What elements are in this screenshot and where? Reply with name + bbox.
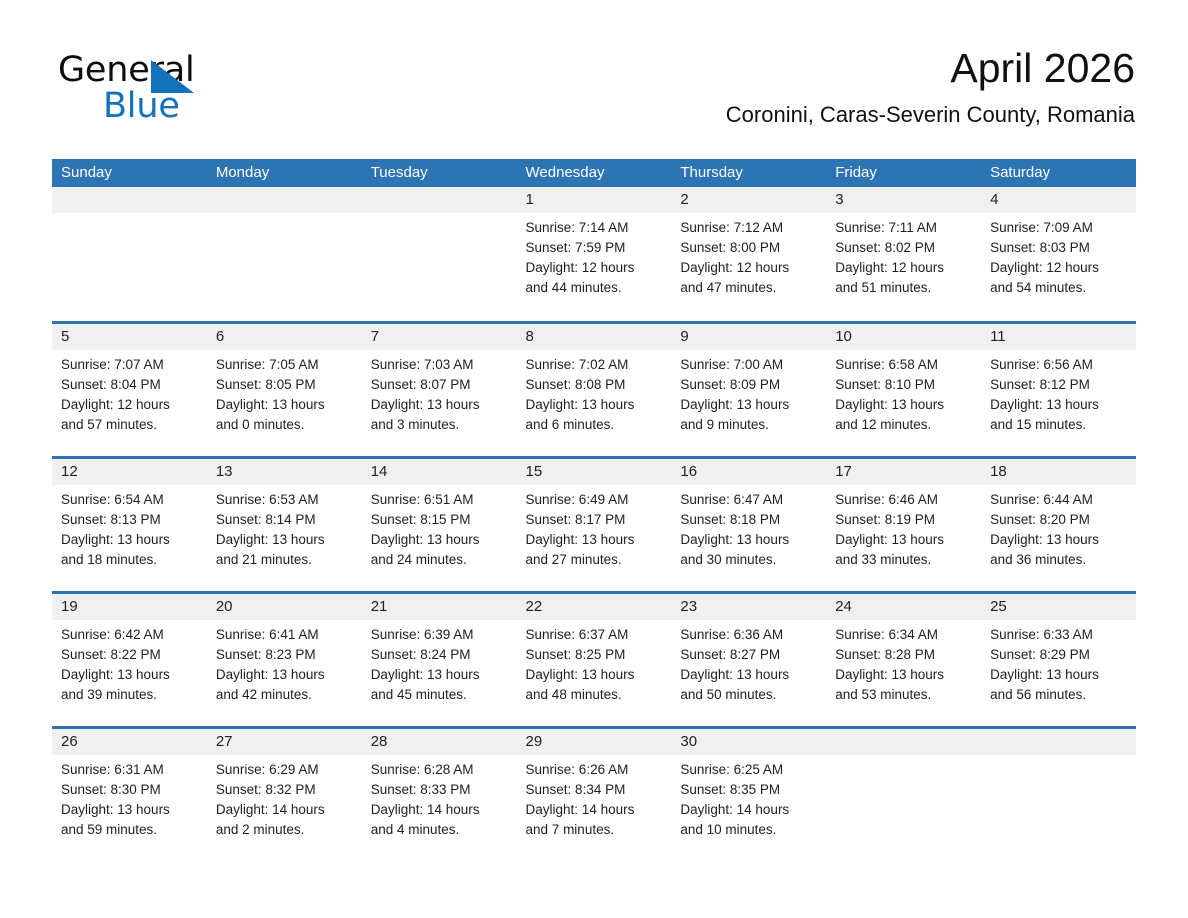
daylight-text-line1: Daylight: 13 hours xyxy=(835,665,973,685)
sunset-text: Sunset: 8:19 PM xyxy=(835,510,973,530)
calendar-day-cell[interactable]: 16 Sunrise: 6:47 AM Sunset: 8:18 PM Dayl… xyxy=(671,457,826,592)
day-details: Sunrise: 7:03 AM Sunset: 8:07 PM Dayligh… xyxy=(362,350,517,435)
day-details: Sunrise: 6:28 AM Sunset: 8:33 PM Dayligh… xyxy=(362,755,517,840)
sunset-text: Sunset: 8:22 PM xyxy=(61,645,199,665)
sunrise-text: Sunrise: 6:54 AM xyxy=(61,490,199,510)
daylight-text-line1: Daylight: 12 hours xyxy=(680,258,818,278)
day-number: 10 xyxy=(826,324,981,350)
day-details xyxy=(362,213,517,218)
daylight-text-line2: and 18 minutes. xyxy=(61,550,199,570)
calendar-page: General Blue April 2026 Coronini, Caras-… xyxy=(0,0,1188,918)
calendar-day-cell[interactable]: 6 Sunrise: 7:05 AM Sunset: 8:05 PM Dayli… xyxy=(207,322,362,457)
sunset-text: Sunset: 8:34 PM xyxy=(526,780,664,800)
day-number: 2 xyxy=(671,187,826,213)
day-details xyxy=(826,755,981,760)
day-number: 23 xyxy=(671,594,826,620)
daylight-text-line2: and 56 minutes. xyxy=(990,685,1128,705)
day-number: 15 xyxy=(517,459,672,485)
sunrise-text: Sunrise: 6:34 AM xyxy=(835,625,973,645)
daylight-text-line2: and 27 minutes. xyxy=(526,550,664,570)
daylight-text-line1: Daylight: 14 hours xyxy=(216,800,354,820)
sunset-text: Sunset: 8:27 PM xyxy=(680,645,818,665)
daylight-text-line1: Daylight: 13 hours xyxy=(526,665,664,685)
daylight-text-line1: Daylight: 12 hours xyxy=(990,258,1128,278)
sunset-text: Sunset: 8:28 PM xyxy=(835,645,973,665)
daylight-text-line1: Daylight: 12 hours xyxy=(526,258,664,278)
day-details: Sunrise: 7:14 AM Sunset: 7:59 PM Dayligh… xyxy=(517,213,672,298)
daylight-text-line2: and 57 minutes. xyxy=(61,415,199,435)
calendar-day-cell[interactable]: 15 Sunrise: 6:49 AM Sunset: 8:17 PM Dayl… xyxy=(517,457,672,592)
sunset-text: Sunset: 8:17 PM xyxy=(526,510,664,530)
day-details: Sunrise: 6:25 AM Sunset: 8:35 PM Dayligh… xyxy=(671,755,826,840)
day-number xyxy=(981,729,1136,755)
sunset-text: Sunset: 8:24 PM xyxy=(371,645,509,665)
title-block: April 2026 Coronini, Caras-Severin Count… xyxy=(726,44,1135,128)
daylight-text-line1: Daylight: 12 hours xyxy=(835,258,973,278)
daylight-text-line2: and 10 minutes. xyxy=(680,820,818,840)
sunrise-text: Sunrise: 6:44 AM xyxy=(990,490,1128,510)
sunset-text: Sunset: 8:12 PM xyxy=(990,375,1128,395)
calendar-day-cell[interactable]: 22 Sunrise: 6:37 AM Sunset: 8:25 PM Dayl… xyxy=(517,592,672,727)
daylight-text-line1: Daylight: 12 hours xyxy=(61,395,199,415)
day-number: 19 xyxy=(52,594,207,620)
day-details: Sunrise: 7:11 AM Sunset: 8:02 PM Dayligh… xyxy=(826,213,981,298)
day-number: 3 xyxy=(826,187,981,213)
sunrise-text: Sunrise: 7:07 AM xyxy=(61,355,199,375)
day-number: 26 xyxy=(52,729,207,755)
calendar-day-cell[interactable]: 12 Sunrise: 6:54 AM Sunset: 8:13 PM Dayl… xyxy=(52,457,207,592)
day-details: Sunrise: 7:02 AM Sunset: 8:08 PM Dayligh… xyxy=(517,350,672,435)
daylight-text-line2: and 44 minutes. xyxy=(526,278,664,298)
day-details xyxy=(52,213,207,218)
day-details: Sunrise: 6:31 AM Sunset: 8:30 PM Dayligh… xyxy=(52,755,207,840)
sunrise-text: Sunrise: 6:49 AM xyxy=(526,490,664,510)
day-number: 9 xyxy=(671,324,826,350)
day-number: 22 xyxy=(517,594,672,620)
calendar-day-cell[interactable]: 25 Sunrise: 6:33 AM Sunset: 8:29 PM Dayl… xyxy=(981,592,1136,727)
sunrise-text: Sunrise: 6:47 AM xyxy=(680,490,818,510)
weekday-header-saturday: Saturday xyxy=(981,159,1136,187)
daylight-text-line1: Daylight: 13 hours xyxy=(371,395,509,415)
sunrise-text: Sunrise: 7:11 AM xyxy=(835,218,973,238)
calendar-day-cell[interactable]: 1 Sunrise: 7:14 AM Sunset: 7:59 PM Dayli… xyxy=(517,187,672,322)
daylight-text-line2: and 59 minutes. xyxy=(61,820,199,840)
day-details: Sunrise: 6:54 AM Sunset: 8:13 PM Dayligh… xyxy=(52,485,207,570)
day-number: 11 xyxy=(981,324,1136,350)
day-details: Sunrise: 7:12 AM Sunset: 8:00 PM Dayligh… xyxy=(671,213,826,298)
day-number: 17 xyxy=(826,459,981,485)
day-number: 25 xyxy=(981,594,1136,620)
generalblue-logo[interactable]: General Blue xyxy=(58,50,298,128)
sunset-text: Sunset: 8:15 PM xyxy=(371,510,509,530)
daylight-text-line2: and 30 minutes. xyxy=(680,550,818,570)
sunset-text: Sunset: 8:10 PM xyxy=(835,375,973,395)
day-details: Sunrise: 6:49 AM Sunset: 8:17 PM Dayligh… xyxy=(517,485,672,570)
sunrise-text: Sunrise: 6:37 AM xyxy=(526,625,664,645)
sunset-text: Sunset: 8:04 PM xyxy=(61,375,199,395)
daylight-text-line1: Daylight: 13 hours xyxy=(680,395,818,415)
daylight-text-line1: Daylight: 13 hours xyxy=(680,530,818,550)
daylight-text-line2: and 39 minutes. xyxy=(61,685,199,705)
sunset-text: Sunset: 8:29 PM xyxy=(990,645,1128,665)
day-number: 30 xyxy=(671,729,826,755)
daylight-text-line2: and 53 minutes. xyxy=(835,685,973,705)
weekday-header-thursday: Thursday xyxy=(671,159,826,187)
sunrise-text: Sunrise: 6:51 AM xyxy=(371,490,509,510)
daylight-text-line2: and 3 minutes. xyxy=(371,415,509,435)
sunset-text: Sunset: 8:14 PM xyxy=(216,510,354,530)
sunrise-text: Sunrise: 6:58 AM xyxy=(835,355,973,375)
daylight-text-line1: Daylight: 13 hours xyxy=(835,530,973,550)
sunset-text: Sunset: 8:23 PM xyxy=(216,645,354,665)
sunset-text: Sunset: 8:35 PM xyxy=(680,780,818,800)
calendar-day-cell[interactable]: 27 Sunrise: 6:29 AM Sunset: 8:32 PM Dayl… xyxy=(207,727,362,862)
sunrise-text: Sunrise: 6:56 AM xyxy=(990,355,1128,375)
sunrise-text: Sunrise: 6:26 AM xyxy=(526,760,664,780)
sunset-text: Sunset: 8:13 PM xyxy=(61,510,199,530)
day-details: Sunrise: 6:26 AM Sunset: 8:34 PM Dayligh… xyxy=(517,755,672,840)
calendar-day-cell[interactable]: 28 Sunrise: 6:28 AM Sunset: 8:33 PM Dayl… xyxy=(362,727,517,862)
day-details: Sunrise: 6:29 AM Sunset: 8:32 PM Dayligh… xyxy=(207,755,362,840)
sunset-text: Sunset: 8:20 PM xyxy=(990,510,1128,530)
sunrise-text: Sunrise: 6:33 AM xyxy=(990,625,1128,645)
daylight-text-line1: Daylight: 13 hours xyxy=(371,665,509,685)
daylight-text-line2: and 54 minutes. xyxy=(990,278,1128,298)
daylight-text-line1: Daylight: 13 hours xyxy=(526,395,664,415)
calendar-day-cell[interactable]: 21 Sunrise: 6:39 AM Sunset: 8:24 PM Dayl… xyxy=(362,592,517,727)
page-subtitle: Coronini, Caras-Severin County, Romania xyxy=(726,102,1135,128)
calendar-week-row: 5 Sunrise: 7:07 AM Sunset: 8:04 PM Dayli… xyxy=(52,322,1136,457)
calendar-day-cell[interactable] xyxy=(362,187,517,322)
sunrise-text: Sunrise: 6:41 AM xyxy=(216,625,354,645)
day-number xyxy=(207,187,362,213)
daylight-text-line1: Daylight: 13 hours xyxy=(526,530,664,550)
calendar-day-cell[interactable] xyxy=(981,727,1136,862)
day-number: 14 xyxy=(362,459,517,485)
sunset-text: Sunset: 7:59 PM xyxy=(526,238,664,258)
daylight-text-line2: and 33 minutes. xyxy=(835,550,973,570)
calendar-day-cell[interactable]: 20 Sunrise: 6:41 AM Sunset: 8:23 PM Dayl… xyxy=(207,592,362,727)
page-title: April 2026 xyxy=(726,44,1135,92)
sunset-text: Sunset: 8:32 PM xyxy=(216,780,354,800)
calendar-day-cell[interactable]: 17 Sunrise: 6:46 AM Sunset: 8:19 PM Dayl… xyxy=(826,457,981,592)
sunset-text: Sunset: 8:25 PM xyxy=(526,645,664,665)
calendar-day-cell[interactable]: 10 Sunrise: 6:58 AM Sunset: 8:10 PM Dayl… xyxy=(826,322,981,457)
calendar-week-row: 26 Sunrise: 6:31 AM Sunset: 8:30 PM Dayl… xyxy=(52,727,1136,862)
calendar-week-row: 1 Sunrise: 7:14 AM Sunset: 7:59 PM Dayli… xyxy=(52,187,1136,322)
daylight-text-line2: and 0 minutes. xyxy=(216,415,354,435)
daylight-text-line1: Daylight: 13 hours xyxy=(990,665,1128,685)
day-details: Sunrise: 6:56 AM Sunset: 8:12 PM Dayligh… xyxy=(981,350,1136,435)
weekday-header-wednesday: Wednesday xyxy=(517,159,672,187)
day-number: 8 xyxy=(517,324,672,350)
day-details: Sunrise: 6:47 AM Sunset: 8:18 PM Dayligh… xyxy=(671,485,826,570)
daylight-text-line2: and 48 minutes. xyxy=(526,685,664,705)
day-number: 20 xyxy=(207,594,362,620)
calendar-day-cell[interactable]: 29 Sunrise: 6:26 AM Sunset: 8:34 PM Dayl… xyxy=(517,727,672,862)
sunrise-text: Sunrise: 7:03 AM xyxy=(371,355,509,375)
daylight-text-line2: and 50 minutes. xyxy=(680,685,818,705)
page-header: General Blue April 2026 Coronini, Caras-… xyxy=(0,0,1188,152)
day-details xyxy=(981,755,1136,760)
calendar-day-cell[interactable]: 13 Sunrise: 6:53 AM Sunset: 8:14 PM Dayl… xyxy=(207,457,362,592)
calendar-week-row: 19 Sunrise: 6:42 AM Sunset: 8:22 PM Dayl… xyxy=(52,592,1136,727)
daylight-text-line1: Daylight: 13 hours xyxy=(371,530,509,550)
day-number: 29 xyxy=(517,729,672,755)
day-details: Sunrise: 6:53 AM Sunset: 8:14 PM Dayligh… xyxy=(207,485,362,570)
sunrise-text: Sunrise: 6:31 AM xyxy=(61,760,199,780)
sunrise-text: Sunrise: 7:02 AM xyxy=(526,355,664,375)
day-details xyxy=(207,213,362,218)
daylight-text-line2: and 9 minutes. xyxy=(680,415,818,435)
sunset-text: Sunset: 8:33 PM xyxy=(371,780,509,800)
day-number: 4 xyxy=(981,187,1136,213)
sunrise-text: Sunrise: 7:09 AM xyxy=(990,218,1128,238)
sunset-text: Sunset: 8:08 PM xyxy=(526,375,664,395)
sunset-text: Sunset: 8:18 PM xyxy=(680,510,818,530)
calendar-day-cell[interactable]: 11 Sunrise: 6:56 AM Sunset: 8:12 PM Dayl… xyxy=(981,322,1136,457)
logo-text-blue: Blue xyxy=(103,86,180,126)
weekday-header-monday: Monday xyxy=(207,159,362,187)
day-details: Sunrise: 7:09 AM Sunset: 8:03 PM Dayligh… xyxy=(981,213,1136,298)
daylight-text-line1: Daylight: 14 hours xyxy=(526,800,664,820)
day-details: Sunrise: 6:41 AM Sunset: 8:23 PM Dayligh… xyxy=(207,620,362,705)
daylight-text-line1: Daylight: 13 hours xyxy=(61,530,199,550)
daylight-text-line2: and 2 minutes. xyxy=(216,820,354,840)
daylight-text-line1: Daylight: 13 hours xyxy=(61,800,199,820)
calendar-day-cell[interactable]: 2 Sunrise: 7:12 AM Sunset: 8:00 PM Dayli… xyxy=(671,187,826,322)
calendar-day-cell[interactable] xyxy=(826,727,981,862)
daylight-text-line1: Daylight: 13 hours xyxy=(835,395,973,415)
daylight-text-line1: Daylight: 13 hours xyxy=(216,665,354,685)
calendar-day-cell[interactable]: 9 Sunrise: 7:00 AM Sunset: 8:09 PM Dayli… xyxy=(671,322,826,457)
day-number: 21 xyxy=(362,594,517,620)
day-number: 24 xyxy=(826,594,981,620)
day-details: Sunrise: 6:36 AM Sunset: 8:27 PM Dayligh… xyxy=(671,620,826,705)
daylight-text-line2: and 12 minutes. xyxy=(835,415,973,435)
sunrise-text: Sunrise: 6:36 AM xyxy=(680,625,818,645)
sunrise-text: Sunrise: 6:25 AM xyxy=(680,760,818,780)
day-details: Sunrise: 6:33 AM Sunset: 8:29 PM Dayligh… xyxy=(981,620,1136,705)
daylight-text-line2: and 7 minutes. xyxy=(526,820,664,840)
day-details: Sunrise: 6:34 AM Sunset: 8:28 PM Dayligh… xyxy=(826,620,981,705)
sunrise-text: Sunrise: 6:39 AM xyxy=(371,625,509,645)
sunrise-text: Sunrise: 7:05 AM xyxy=(216,355,354,375)
calendar-day-cell[interactable]: 26 Sunrise: 6:31 AM Sunset: 8:30 PM Dayl… xyxy=(52,727,207,862)
day-number: 18 xyxy=(981,459,1136,485)
day-number xyxy=(362,187,517,213)
calendar-day-cell[interactable]: 14 Sunrise: 6:51 AM Sunset: 8:15 PM Dayl… xyxy=(362,457,517,592)
daylight-text-line2: and 47 minutes. xyxy=(680,278,818,298)
sunrise-text: Sunrise: 6:29 AM xyxy=(216,760,354,780)
daylight-text-line1: Daylight: 14 hours xyxy=(680,800,818,820)
calendar-table: Sunday Monday Tuesday Wednesday Thursday… xyxy=(52,159,1136,862)
sunrise-text: Sunrise: 7:00 AM xyxy=(680,355,818,375)
daylight-text-line2: and 6 minutes. xyxy=(526,415,664,435)
daylight-text-line2: and 15 minutes. xyxy=(990,415,1128,435)
weekday-header-friday: Friday xyxy=(826,159,981,187)
day-details: Sunrise: 7:00 AM Sunset: 8:09 PM Dayligh… xyxy=(671,350,826,435)
daylight-text-line2: and 42 minutes. xyxy=(216,685,354,705)
daylight-text-line2: and 45 minutes. xyxy=(371,685,509,705)
day-number: 12 xyxy=(52,459,207,485)
sunset-text: Sunset: 8:03 PM xyxy=(990,238,1128,258)
calendar-day-cell[interactable] xyxy=(52,187,207,322)
daylight-text-line2: and 24 minutes. xyxy=(371,550,509,570)
day-number: 7 xyxy=(362,324,517,350)
sunset-text: Sunset: 8:05 PM xyxy=(216,375,354,395)
sunset-text: Sunset: 8:00 PM xyxy=(680,238,818,258)
calendar-day-cell[interactable]: 7 Sunrise: 7:03 AM Sunset: 8:07 PM Dayli… xyxy=(362,322,517,457)
day-details: Sunrise: 6:42 AM Sunset: 8:22 PM Dayligh… xyxy=(52,620,207,705)
day-details: Sunrise: 6:46 AM Sunset: 8:19 PM Dayligh… xyxy=(826,485,981,570)
sunset-text: Sunset: 8:02 PM xyxy=(835,238,973,258)
day-details: Sunrise: 6:51 AM Sunset: 8:15 PM Dayligh… xyxy=(362,485,517,570)
daylight-text-line1: Daylight: 13 hours xyxy=(61,665,199,685)
calendar-day-cell[interactable]: 19 Sunrise: 6:42 AM Sunset: 8:22 PM Dayl… xyxy=(52,592,207,727)
daylight-text-line1: Daylight: 13 hours xyxy=(990,395,1128,415)
weekday-header-sunday: Sunday xyxy=(52,159,207,187)
day-details: Sunrise: 6:39 AM Sunset: 8:24 PM Dayligh… xyxy=(362,620,517,705)
day-number: 1 xyxy=(517,187,672,213)
calendar-day-cell[interactable]: 30 Sunrise: 6:25 AM Sunset: 8:35 PM Dayl… xyxy=(671,727,826,862)
sunrise-text: Sunrise: 6:53 AM xyxy=(216,490,354,510)
sunset-text: Sunset: 8:30 PM xyxy=(61,780,199,800)
calendar-day-cell[interactable]: 23 Sunrise: 6:36 AM Sunset: 8:27 PM Dayl… xyxy=(671,592,826,727)
calendar-day-cell[interactable]: 8 Sunrise: 7:02 AM Sunset: 8:08 PM Dayli… xyxy=(517,322,672,457)
day-number xyxy=(826,729,981,755)
day-number: 16 xyxy=(671,459,826,485)
day-details: Sunrise: 6:44 AM Sunset: 8:20 PM Dayligh… xyxy=(981,485,1136,570)
daylight-text-line2: and 21 minutes. xyxy=(216,550,354,570)
calendar-day-cell[interactable] xyxy=(207,187,362,322)
day-number: 5 xyxy=(52,324,207,350)
daylight-text-line1: Daylight: 13 hours xyxy=(680,665,818,685)
day-number: 13 xyxy=(207,459,362,485)
daylight-text-line1: Daylight: 13 hours xyxy=(990,530,1128,550)
sunset-text: Sunset: 8:09 PM xyxy=(680,375,818,395)
day-number: 27 xyxy=(207,729,362,755)
sunrise-text: Sunrise: 6:42 AM xyxy=(61,625,199,645)
calendar-day-cell[interactable]: 3 Sunrise: 7:11 AM Sunset: 8:02 PM Dayli… xyxy=(826,187,981,322)
calendar-header-row: Sunday Monday Tuesday Wednesday Thursday… xyxy=(52,159,1136,187)
sunset-text: Sunset: 8:07 PM xyxy=(371,375,509,395)
weekday-header-tuesday: Tuesday xyxy=(362,159,517,187)
daylight-text-line1: Daylight: 13 hours xyxy=(216,530,354,550)
daylight-text-line1: Daylight: 13 hours xyxy=(216,395,354,415)
calendar-day-cell[interactable]: 24 Sunrise: 6:34 AM Sunset: 8:28 PM Dayl… xyxy=(826,592,981,727)
day-number: 6 xyxy=(207,324,362,350)
day-details: Sunrise: 6:37 AM Sunset: 8:25 PM Dayligh… xyxy=(517,620,672,705)
calendar-day-cell[interactable]: 5 Sunrise: 7:07 AM Sunset: 8:04 PM Dayli… xyxy=(52,322,207,457)
daylight-text-line2: and 36 minutes. xyxy=(990,550,1128,570)
sunrise-text: Sunrise: 7:12 AM xyxy=(680,218,818,238)
day-details: Sunrise: 7:05 AM Sunset: 8:05 PM Dayligh… xyxy=(207,350,362,435)
daylight-text-line1: Daylight: 14 hours xyxy=(371,800,509,820)
day-details: Sunrise: 7:07 AM Sunset: 8:04 PM Dayligh… xyxy=(52,350,207,435)
sunrise-text: Sunrise: 6:28 AM xyxy=(371,760,509,780)
sunrise-text: Sunrise: 7:14 AM xyxy=(526,218,664,238)
day-details: Sunrise: 6:58 AM Sunset: 8:10 PM Dayligh… xyxy=(826,350,981,435)
daylight-text-line2: and 4 minutes. xyxy=(371,820,509,840)
sunrise-text: Sunrise: 6:46 AM xyxy=(835,490,973,510)
daylight-text-line2: and 51 minutes. xyxy=(835,278,973,298)
calendar-week-row: 12 Sunrise: 6:54 AM Sunset: 8:13 PM Dayl… xyxy=(52,457,1136,592)
day-number xyxy=(52,187,207,213)
calendar-body: 1 Sunrise: 7:14 AM Sunset: 7:59 PM Dayli… xyxy=(52,187,1136,862)
calendar-day-cell[interactable]: 18 Sunrise: 6:44 AM Sunset: 8:20 PM Dayl… xyxy=(981,457,1136,592)
day-number: 28 xyxy=(362,729,517,755)
calendar-day-cell[interactable]: 4 Sunrise: 7:09 AM Sunset: 8:03 PM Dayli… xyxy=(981,187,1136,322)
